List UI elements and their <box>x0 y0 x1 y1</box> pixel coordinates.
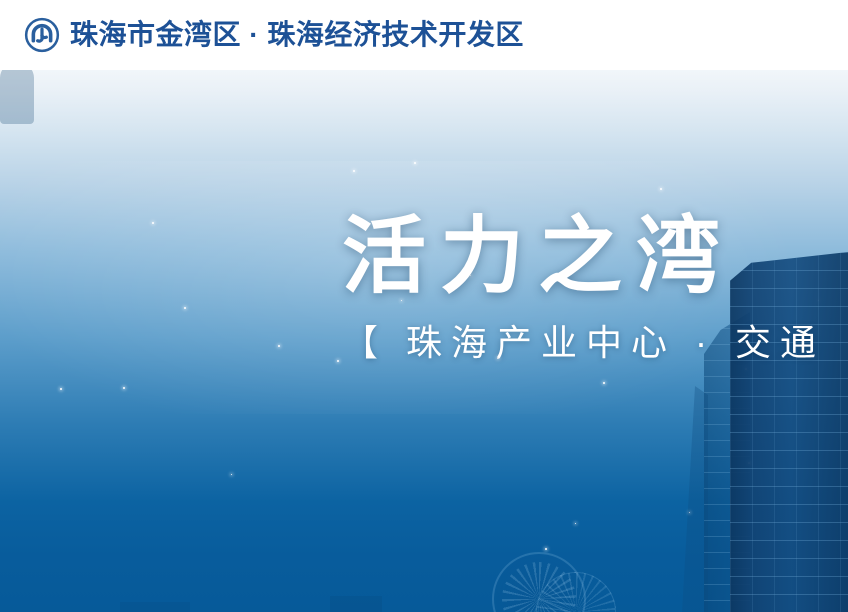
site-header: 珠海市金湾区 · 珠海经济技术开发区 <box>0 0 848 70</box>
circular-arch-emblem-icon[interactable] <box>24 17 60 53</box>
hero-subline: 【 珠海产业中心 · 交通 <box>328 322 848 363</box>
hero-banner: 活力之湾 【 珠海产业中心 · 交通 <box>0 62 848 612</box>
banner-page: 珠海市金湾区 · 珠海经济技术开发区 活力之湾 【 珠海产业中心 · 交通 <box>0 0 848 612</box>
hero-copy-block: 活力之湾 【 珠海产业中心 · 交通 <box>328 212 848 364</box>
hero-headline: 活力之湾 <box>328 212 848 300</box>
brand-title: 珠海市金湾区 · 珠海经济技术开发区 <box>70 21 524 49</box>
